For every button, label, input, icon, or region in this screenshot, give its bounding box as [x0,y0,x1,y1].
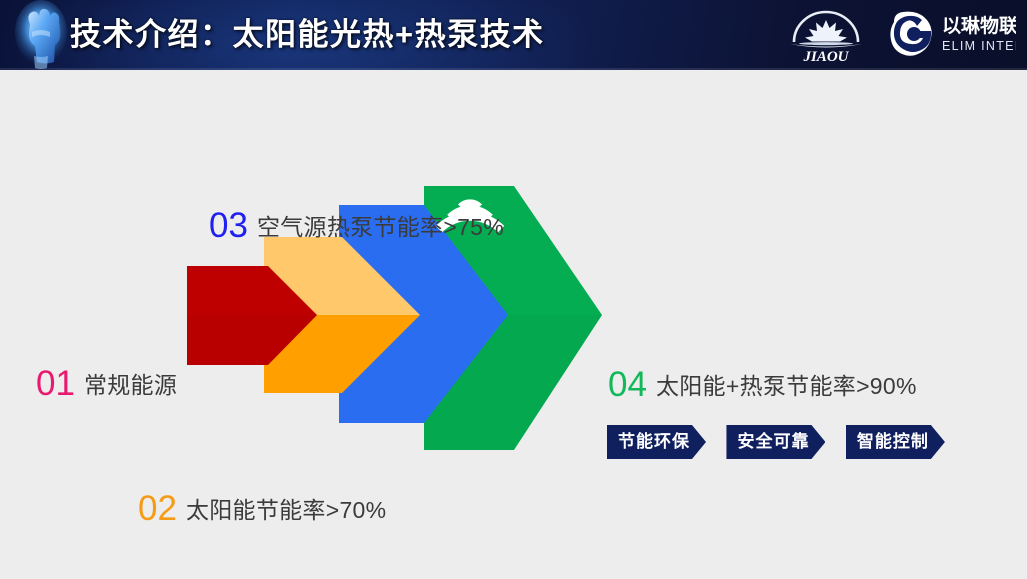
jiaou-wordmark: JIAOU [802,49,849,64]
stage-01-number: 01 [36,364,75,403]
badge-safe-reliable[interactable]: 安全可靠 [726,425,825,459]
stage-02-number: 02 [138,489,177,528]
sunrise-icon [790,12,862,48]
badge-smart-control[interactable]: 智能控制 [846,425,945,459]
stage-02-text: 太阳能节能率>70% [186,497,386,523]
stage-04-number: 04 [608,365,647,404]
stage-03-number: 03 [209,206,248,245]
stage-03-text: 空气源热泵节能率>75% [257,214,504,240]
stage-02-label: 02太阳能节能率>70% [138,491,386,526]
stage-01-label: 01常规能源 [36,366,177,401]
jiaou-logo: JIAOU [786,6,866,64]
elim-en-name: ELIM INTERNET [942,39,1016,53]
elim-g-mark [890,12,931,56]
diagram-canvas: 01常规能源 02太阳能节能率>70% 03空气源热泵节能率>75% 04太阳能… [0,70,1027,579]
raised-fist-icon [12,0,70,70]
stage-01-text: 常规能源 [84,372,177,398]
stage-04-label: 04太阳能+热泵节能率>90% [608,367,917,402]
elim-internet-logo: 以琳物联 ELIM INTERNET [884,8,1016,62]
page-header: 技术介绍：太阳能光热+热泵技术 JIAOU 以琳物联 ELIM INTERNET [0,0,1027,70]
elim-cn-name: 以琳物联 [942,14,1016,37]
stage-03-label: 03空气源热泵节能率>75% [209,208,504,243]
page-title: 技术介绍：太阳能光热+热泵技术 [70,9,545,54]
feature-badge-group: 节能环保 安全可靠 智能控制 [607,425,961,459]
badge-energy-saving[interactable]: 节能环保 [607,425,706,459]
stage-04-text: 太阳能+热泵节能率>90% [656,373,917,399]
